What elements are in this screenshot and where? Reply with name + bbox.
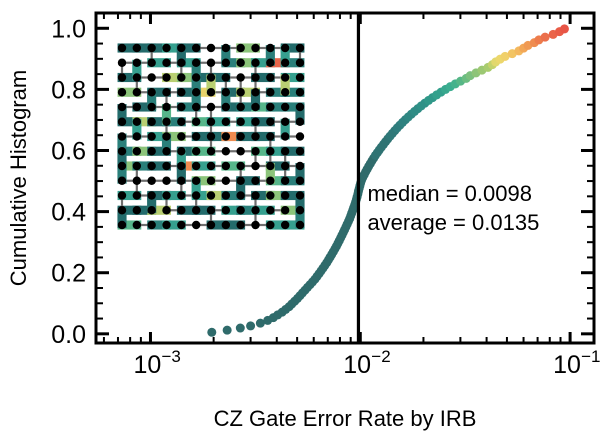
qubit-node [177,177,185,185]
x-tick-label-base: 10 [553,351,581,379]
qubit-node [162,44,170,52]
qubit-node [266,59,274,67]
qubit-node [281,103,289,111]
y-tick-label: 1.0 [51,15,86,43]
qubit-node [236,132,244,140]
qubit-node [162,73,170,81]
data-point [246,321,255,330]
qubit-node [236,177,244,185]
qubit-node [207,88,215,96]
qubit-node [296,206,304,214]
qubit-node [251,147,259,155]
x-tick-label-base: 10 [133,351,161,379]
qubit-node [147,147,155,155]
qubit-node [133,191,141,199]
qubit-node [296,191,304,199]
qubit-node [236,73,244,81]
qubit-node [281,221,289,229]
qubit-node [251,44,259,52]
qubit-node [177,206,185,214]
qubit-node [118,73,126,81]
qubit-node [192,132,200,140]
qubit-node [192,88,200,96]
qubit-node [266,44,274,52]
qubit-node [207,118,215,126]
qubit-node [133,103,141,111]
qubit-node [133,147,141,155]
qubit-node [177,44,185,52]
qubit-node [147,191,155,199]
qubit-node [192,162,200,170]
qubit-node [133,132,141,140]
qubit-node [192,191,200,199]
qubit-node [147,44,155,52]
qubit-node [251,191,259,199]
qubit-node [281,59,289,67]
qubit-node [118,162,126,170]
qubit-node [281,162,289,170]
qubit-node [118,59,126,67]
qubit-node [207,206,215,214]
qubit-node [147,118,155,126]
qubit-node [147,206,155,214]
qubit-node [251,88,259,96]
qubit-node [222,103,230,111]
qubit-node [147,177,155,185]
qubit-node [118,132,126,140]
qubit-node [281,118,289,126]
qubit-node [266,118,274,126]
qubit-node [207,44,215,52]
qubit-node [177,132,185,140]
qubit-node [236,191,244,199]
x-tick-label-exponent: −3 [161,347,180,366]
qubit-node [222,44,230,52]
y-tick-label: 0.0 [51,321,86,349]
qubit-node [281,206,289,214]
cz-gate-error-ecdf-figure: Cumulative Histogram 0.00.20.40.60.81.0 … [0,0,610,436]
qubit-node [222,191,230,199]
qubit-node [207,132,215,140]
qubit-node [207,147,215,155]
qubit-node [162,221,170,229]
qubit-node [266,206,274,214]
qubit-node [281,44,289,52]
qubit-node [192,73,200,81]
qubit-node [222,147,230,155]
qubit-node [281,88,289,96]
qubit-node [192,221,200,229]
qubit-node [251,132,259,140]
qubit-node [192,59,200,67]
average-annotation: average = 0.0135 [367,210,539,235]
qubit-node [147,132,155,140]
y-axis-title-group: Cumulative Histogram [6,70,31,286]
qubit-node [177,191,185,199]
y-tick-label: 0.8 [51,76,86,104]
qubit-node [207,73,215,81]
qubit-node [118,177,126,185]
x-tick-label-exponent: −1 [581,347,600,366]
qubit-node [281,191,289,199]
qubit-node [133,206,141,214]
qubit-node [207,221,215,229]
qubit-node [162,132,170,140]
qubit-node [192,147,200,155]
y-tick-label: 0.4 [51,199,86,227]
qubit-node [236,44,244,52]
qubit-node [118,221,126,229]
qubit-node [177,88,185,96]
qubit-node [177,221,185,229]
qubit-node [118,191,126,199]
qubit-node [236,118,244,126]
qubit-node [222,206,230,214]
qubit-node [118,147,126,155]
qubit-node [251,162,259,170]
qubit-node [251,177,259,185]
qubit-node [296,118,304,126]
qubit-node [177,162,185,170]
qubit-node [266,132,274,140]
qubit-node [177,147,185,155]
qubit-node [207,103,215,111]
qubit-node [133,177,141,185]
qubit-node [118,103,126,111]
qubit-node [281,132,289,140]
qubit-node [251,206,259,214]
data-point [207,328,216,337]
qubit-node [236,103,244,111]
qubit-node [266,177,274,185]
qubit-node [133,88,141,96]
qubit-node [251,103,259,111]
qubit-node [296,73,304,81]
qubit-node [162,88,170,96]
qubit-node [192,177,200,185]
qubit-node [192,103,200,111]
qubit-node [236,221,244,229]
median-annotation: median = 0.0098 [367,181,532,206]
qubit-node [222,118,230,126]
qubit-node [296,177,304,185]
qubit-node [251,118,259,126]
qubit-node [207,191,215,199]
qubit-node [118,88,126,96]
x-tick-label-base: 10 [343,351,371,379]
qubit-node [266,73,274,81]
qubit-node [147,103,155,111]
qubit-node [177,103,185,111]
qubit-node [162,177,170,185]
qubit-node [147,59,155,67]
qubit-node [147,221,155,229]
qubit-node [296,59,304,67]
qubit-node [207,177,215,185]
qubit-node [118,118,126,126]
qubit-node [281,147,289,155]
qubit-node [162,206,170,214]
qubit-node [162,191,170,199]
qubit-node [192,206,200,214]
qubit-node [251,221,259,229]
qubit-node [177,73,185,81]
qubit-node [207,59,215,67]
qubit-node [251,73,259,81]
qubit-node [162,59,170,67]
qubit-node [222,162,230,170]
qubit-node [266,162,274,170]
qubit-node [236,162,244,170]
qubit-node [266,191,274,199]
qubit-node [133,44,141,52]
data-point [560,24,569,33]
x-tick-label-exponent: −2 [371,347,390,366]
qubit-node [222,88,230,96]
data-point [236,324,245,333]
y-tick-label: 0.2 [51,260,86,288]
qubit-node [133,118,141,126]
qubit-node [281,73,289,81]
qubit-node [133,162,141,170]
qubit-node [133,73,141,81]
qubit-node [296,147,304,155]
qubit-node [296,162,304,170]
qubit-node [147,162,155,170]
x-axis-title: CZ Gate Error Rate by IRB [214,406,477,431]
qubit-node [296,221,304,229]
qubit-node [281,177,289,185]
qubit-node [296,44,304,52]
qubit-node [236,206,244,214]
qubit-node [192,44,200,52]
qubit-node [162,162,170,170]
qubit-node [296,132,304,140]
qubit-node [177,59,185,67]
qubit-node [162,118,170,126]
qubit-node [147,73,155,81]
data-point [541,33,550,42]
qubit-node [133,221,141,229]
y-tick-label: 0.6 [51,138,86,166]
qubit-node [266,221,274,229]
qubit-node [222,59,230,67]
qubit-node [118,206,126,214]
qubit-node [236,147,244,155]
qubit-node [236,88,244,96]
qubit-node [266,103,274,111]
qubit-node [207,162,215,170]
qubit-node [222,221,230,229]
qubit-node [251,59,259,67]
chart-svg: Cumulative Histogram 0.00.20.40.60.81.0 … [0,0,610,436]
qubit-node [192,118,200,126]
qubit-node [177,118,185,126]
data-point [223,326,232,335]
qubit-node [296,88,304,96]
qubit-node [266,147,274,155]
qubit-node [162,147,170,155]
y-axis-title: Cumulative Histogram [6,70,31,286]
qubit-node [266,88,274,96]
qubit-node [222,177,230,185]
qubit-node [162,103,170,111]
qubit-node [236,59,244,67]
qubit-node [118,44,126,52]
qubit-node [222,132,230,140]
qubit-node [147,88,155,96]
qubit-node [133,59,141,67]
x-axis-title-group: CZ Gate Error Rate by IRB [214,406,477,431]
qubit-node [222,73,230,81]
qubit-node [296,103,304,111]
